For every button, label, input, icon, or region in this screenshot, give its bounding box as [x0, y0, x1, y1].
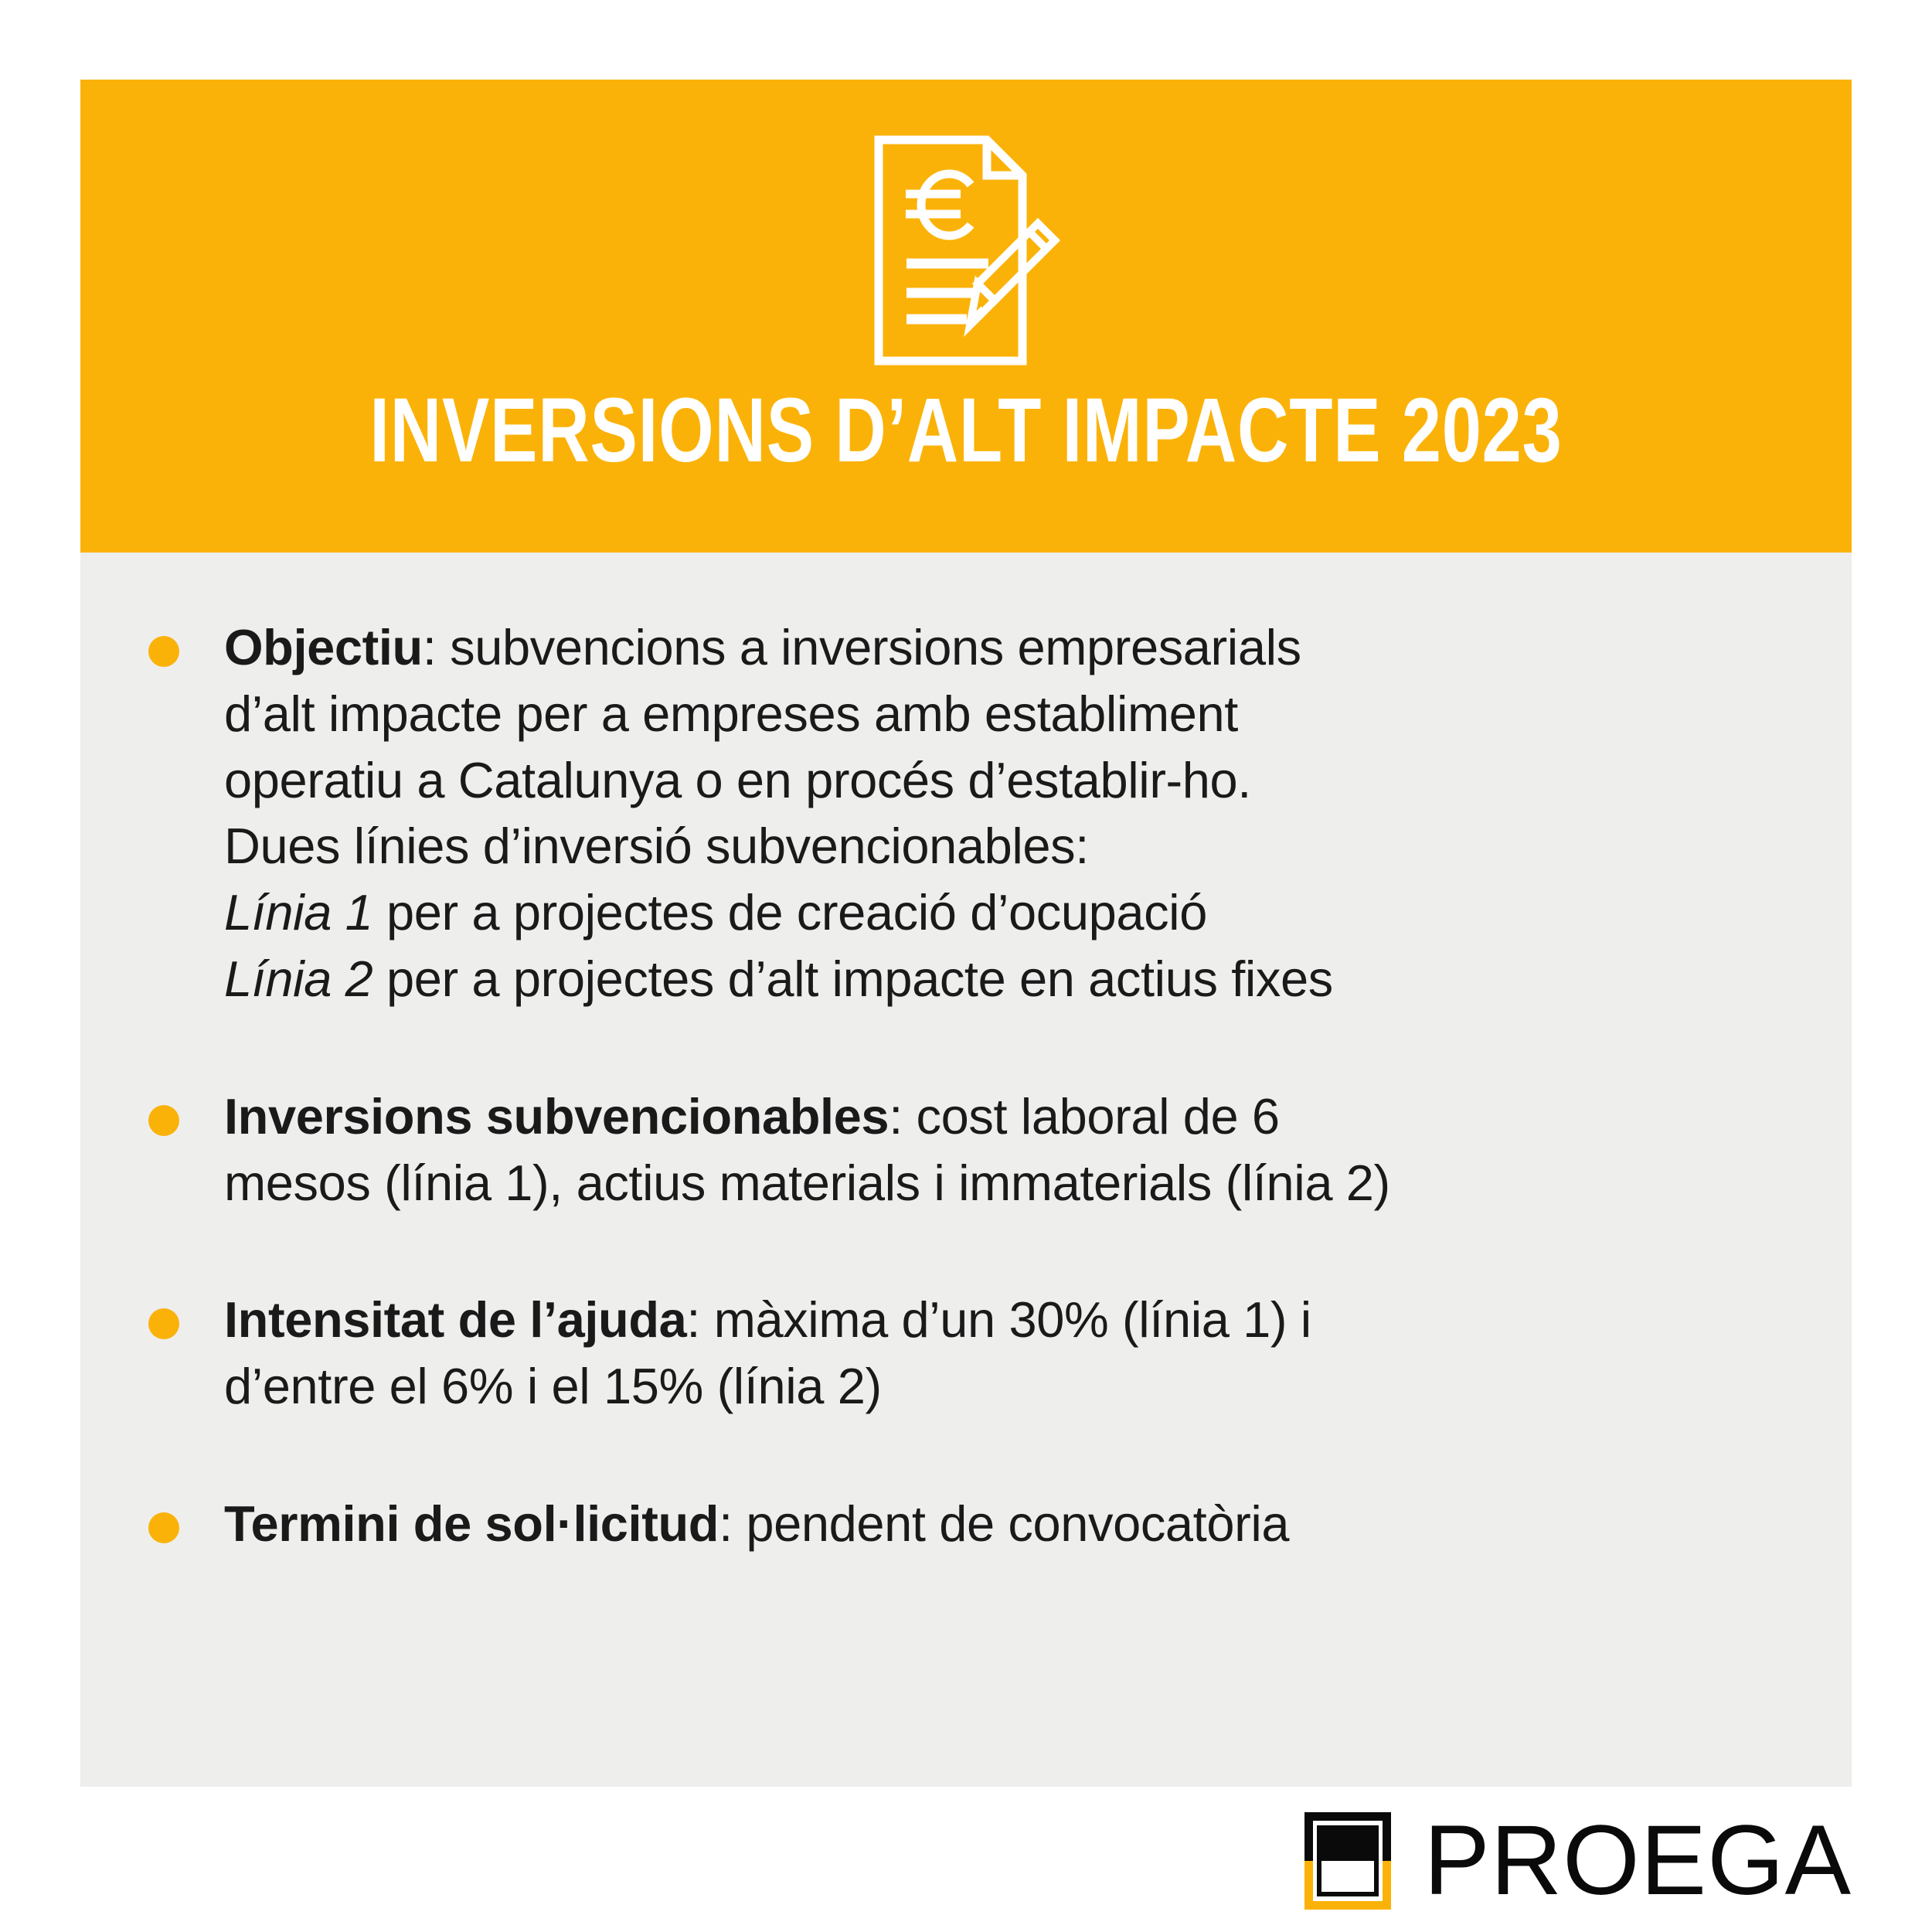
bullet-line: d’entre el 6% i el 15% (línia 2) — [224, 1353, 1798, 1420]
proega-wordmark: PROEGA — [1423, 1811, 1852, 1910]
list-item: Objectiu: subvencions a inversions empre… — [139, 614, 1798, 1012]
bullet-line: cost laboral de 6 — [917, 1088, 1280, 1145]
content-panel: Objectiu: subvencions a inversions empre… — [80, 553, 1852, 1787]
bullet-emphasis-line: Línia 1 per a projectes de creació d’ocu… — [224, 879, 1798, 946]
bullet-list: Objectiu: subvencions a inversions empre… — [139, 614, 1798, 1557]
bullet-dot-icon — [148, 1105, 179, 1136]
list-item: Inversions subvencionables: cost laboral… — [139, 1083, 1798, 1216]
bullet-label: Intensitat de l’ajuda — [224, 1291, 686, 1348]
bullet-line: màxima d’un 30% (línia 1) i — [714, 1291, 1311, 1348]
bullet-separator: : — [889, 1088, 916, 1145]
bullet-line: pendent de convocatòria — [746, 1495, 1289, 1552]
infographic-card: INVERSIONS D’ALT IMPACTE 2023 Objectiu: … — [80, 80, 1852, 1787]
bullet-separator: : — [686, 1291, 713, 1348]
bullet-separator: : — [719, 1495, 746, 1552]
document-euro-pencil-icon — [871, 132, 1061, 369]
list-item: Termini de sol·licitud: pendent de convo… — [139, 1491, 1798, 1557]
proega-square-mark-icon — [1304, 1812, 1391, 1910]
line-rest: per a projectes d’alt impacte en actius … — [372, 951, 1333, 1007]
bullet-separator: : — [423, 619, 450, 675]
bullet-dot-icon — [148, 1308, 179, 1339]
bullet-line: operatiu a Catalunya o en procés d’estab… — [224, 747, 1798, 814]
line-name: Línia 1 — [224, 884, 372, 940]
bullet-dot-icon — [148, 636, 179, 667]
bullet-emphasis-line: Línia 2 per a projectes d’alt impacte en… — [224, 946, 1798, 1012]
bullet-text: Inversions subvencionables: cost laboral… — [224, 1083, 1798, 1216]
line-name: Línia 2 — [224, 951, 372, 1007]
bullet-line: subvencions a inversions empresarials — [450, 619, 1301, 675]
bullet-label: Objectiu — [224, 619, 423, 675]
header-banner: INVERSIONS D’ALT IMPACTE 2023 — [80, 80, 1852, 553]
footer: PROEGA — [0, 1787, 1932, 1932]
proega-logo: PROEGA — [1304, 1807, 1852, 1915]
bullet-line: d’alt impacte per a empreses amb establi… — [224, 681, 1798, 747]
bullet-text: Intensitat de l’ajuda: màxima d’un 30% (… — [224, 1287, 1798, 1420]
bullet-line: mesos (línia 1), actius materials i imma… — [224, 1150, 1798, 1216]
page-title: INVERSIONS D’ALT IMPACTE 2023 — [275, 385, 1657, 476]
bullet-label: Termini de sol·licitud — [224, 1495, 719, 1552]
bullet-dot-icon — [148, 1512, 179, 1543]
bullet-line: Dues línies d’inversió subvencionables: — [224, 813, 1798, 879]
list-item: Intensitat de l’ajuda: màxima d’un 30% (… — [139, 1287, 1798, 1420]
bullet-label: Inversions subvencionables — [224, 1088, 889, 1145]
bullet-text: Termini de sol·licitud: pendent de convo… — [224, 1491, 1798, 1557]
line-rest: per a projectes de creació d’ocupació — [372, 884, 1207, 940]
bullet-text: Objectiu: subvencions a inversions empre… — [224, 614, 1798, 1012]
